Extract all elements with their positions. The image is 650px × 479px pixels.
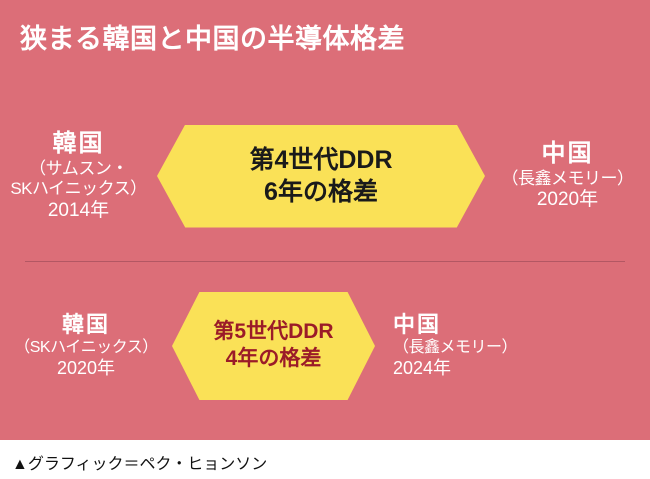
gen5-gap-value: 4年の格差 <box>226 346 322 373</box>
gen4-gap-value: 6年の格差 <box>264 176 378 208</box>
gen4-korea-block: 韓国 （サムスン・ SKハイニックス） 2014年 <box>0 130 157 222</box>
gen4-gap-title: 第4世代DDR <box>249 144 392 176</box>
comparison-row-gen4: 韓国 （サムスン・ SKハイニックス） 2014年 第4世代DDR 6年の格差 … <box>0 110 650 242</box>
section-divider <box>25 261 625 262</box>
gen5-china-company: （長鑫メモリー） <box>393 339 650 358</box>
gen4-korea-year: 2014年 <box>0 200 157 222</box>
gen4-china-country: 中国 <box>485 140 650 168</box>
gen4-china-block: 中国 （長鑫メモリー） 2020年 <box>485 140 650 212</box>
gen5-korea-country: 韓国 <box>0 312 172 338</box>
gen4-china-year: 2020年 <box>485 189 650 211</box>
gen5-korea-company: （SKハイニックス） <box>0 339 172 358</box>
gen4-china-company: （長鑫メモリー） <box>485 169 650 189</box>
gen5-gap-title: 第5世代DDR <box>213 319 333 346</box>
gen5-china-year: 2024年 <box>393 358 650 379</box>
gen5-china-block: 中国 （長鑫メモリー） 2024年 <box>375 312 650 379</box>
gen4-korea-country: 韓国 <box>0 130 157 158</box>
page-title: 狭まる韓国と中国の半導体格差 <box>20 17 405 56</box>
gen5-china-country: 中国 <box>393 312 650 338</box>
gen5-korea-block: 韓国 （SKハイニックス） 2020年 <box>0 312 172 379</box>
graphic-credit: ▲グラフィック＝ペク・ヒョンソン <box>12 450 267 474</box>
comparison-row-gen5: 韓国 （SKハイニックス） 2020年 第5世代DDR 4年の格差 中国 （長鑫… <box>0 288 650 404</box>
gen4-korea-company-line2: SKハイニックス） <box>0 179 157 199</box>
gen4-gap-hexagon: 第4世代DDR 6年の格差 <box>157 125 485 228</box>
gen5-gap-hexagon: 第5世代DDR 4年の格差 <box>172 292 375 400</box>
gen5-korea-year: 2020年 <box>0 358 172 379</box>
gen4-korea-company-line1: （サムスン・ <box>0 159 157 179</box>
infographic-root: 狭まる韓国と中国の半導体格差 韓国 （サムスン・ SKハイニックス） 2014年… <box>0 0 650 479</box>
